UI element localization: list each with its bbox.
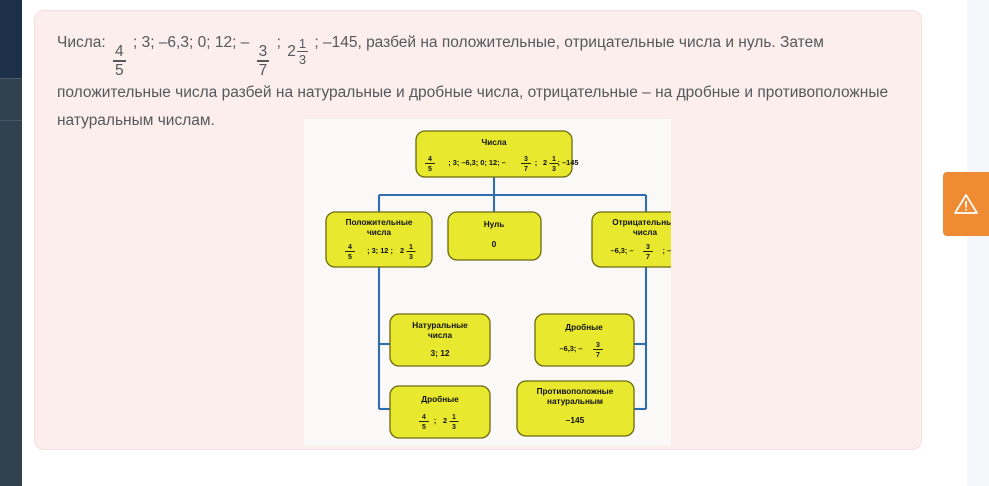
fraction-three-sevenths: 3 7: [257, 44, 270, 79]
svg-text:7: 7: [524, 166, 528, 173]
node-natural-value: 3; 12: [430, 348, 449, 358]
svg-text:3: 3: [409, 254, 413, 261]
prompt-lead: Числа:: [57, 34, 106, 51]
node-fractional-pos-title: Дробные: [421, 394, 459, 404]
svg-text:7: 7: [596, 352, 600, 359]
node-negative-title-line2: числа: [633, 228, 658, 237]
nav-rail-divider-2: [0, 120, 22, 121]
node-opposite-natural[interactable]: Противоположные натуральным –145: [517, 381, 634, 436]
svg-text:3: 3: [524, 156, 528, 163]
node-natural[interactable]: Натуральные числа 3; 12: [390, 314, 490, 366]
prompt-line-2: положительные числа разбей на натуральны…: [57, 84, 753, 101]
svg-text:7: 7: [646, 254, 650, 261]
svg-text:1: 1: [452, 414, 456, 421]
left-nav-rail[interactable]: [0, 0, 22, 486]
fraction-denominator: 3: [297, 53, 308, 66]
prompt-separator-2: ;: [277, 34, 281, 51]
svg-text:; 3; –6,3; 0; 12; –: ; 3; –6,3; 0; 12; –: [448, 158, 506, 167]
node-fractional-neg[interactable]: Дробные –6,3; – 3 7: [535, 314, 634, 366]
main-content: Числа: 4 5 ; 3; –6,3; 0; 12; – 3 7 ; 2 1…: [22, 0, 967, 486]
node-opposite-value: –145: [566, 415, 585, 425]
svg-text:1: 1: [552, 156, 556, 163]
fraction-denominator: 5: [113, 63, 126, 79]
fraction-four-fifths: 4 5: [113, 44, 126, 79]
prompt-separator-1: ; 3; –6,3; 0; 12; –: [133, 34, 249, 51]
svg-text:1: 1: [409, 244, 413, 251]
node-zero-value: 0: [492, 239, 497, 249]
node-fractional-pos-box: [390, 386, 490, 438]
fraction-denominator: 7: [257, 63, 270, 79]
mixed-fraction-part: 1 3: [297, 37, 308, 67]
nav-rail-top-segment: [0, 0, 22, 78]
svg-text:4: 4: [428, 156, 432, 163]
svg-text:3: 3: [646, 244, 650, 251]
svg-text:3: 3: [596, 342, 600, 349]
svg-text:3: 3: [552, 166, 556, 173]
svg-text:; –145: ; –145: [558, 158, 579, 167]
node-positive[interactable]: Положительные числа 4 5 ; 3; 12 ; 2 1 3: [326, 212, 432, 267]
node-fractional-neg-box: [535, 314, 634, 366]
svg-text:2: 2: [443, 416, 447, 425]
svg-text:4: 4: [422, 414, 426, 421]
warning-alert-button[interactable]: [943, 172, 989, 236]
svg-text:4: 4: [348, 244, 352, 251]
node-root[interactable]: Числа 4 5 ; 3; –6,3; 0; 12; – 3 7 ; 2: [416, 131, 578, 177]
fraction-numerator: 4: [113, 44, 126, 60]
classification-diagram: Числа 4 5 ; 3; –6,3; 0; 12; – 3 7 ; 2: [304, 119, 671, 446]
node-root-title: Числа: [481, 138, 507, 147]
svg-text:–6,3; –: –6,3; –: [610, 246, 633, 255]
fraction-numerator: 3: [257, 44, 270, 60]
node-zero[interactable]: Нуль 0: [448, 212, 541, 260]
node-positive-title-line1: Положительные: [346, 218, 413, 227]
node-fractional-neg-title: Дробные: [565, 322, 603, 332]
svg-text:; –145: ; –145: [663, 246, 671, 255]
svg-text:5: 5: [428, 166, 432, 173]
right-rail: [967, 0, 989, 486]
warning-triangle-icon: [953, 192, 979, 216]
mixed-number-two-one-third: 2 1 3: [287, 37, 308, 67]
node-zero-title: Нуль: [484, 220, 505, 229]
node-opposite-title-line2: натуральным: [547, 397, 603, 406]
node-fractional-pos[interactable]: Дробные 4 5 ; 2 1 3: [390, 386, 490, 438]
node-positive-title-line2: числа: [367, 228, 392, 237]
mixed-whole-part: 2: [287, 38, 296, 66]
svg-text:;: ;: [434, 416, 436, 425]
node-negative[interactable]: Отрицательные числа –6,3; – 3 7 ; –145: [592, 212, 671, 267]
svg-text:;: ;: [535, 158, 537, 167]
svg-text:–6,3; –: –6,3; –: [559, 344, 582, 353]
prompt-tail: ; –145, разбей на положительные, отрицат…: [314, 34, 824, 51]
task-card: Числа: 4 5 ; 3; –6,3; 0; 12; – 3 7 ; 2 1…: [34, 10, 922, 450]
node-negative-title-line1: Отрицательные: [612, 218, 671, 227]
node-natural-title-line2: числа: [428, 331, 453, 340]
svg-text:; 3; 12 ;: ; 3; 12 ;: [367, 246, 393, 255]
nav-rail-divider-1: [0, 78, 22, 79]
svg-text:2: 2: [400, 246, 404, 255]
svg-text:2: 2: [543, 158, 547, 167]
svg-text:5: 5: [422, 424, 426, 431]
fraction-numerator: 1: [297, 37, 308, 50]
svg-text:5: 5: [348, 254, 352, 261]
node-opposite-title-line1: Противоположные: [537, 387, 614, 396]
node-natural-title-line1: Натуральные: [412, 321, 468, 330]
svg-text:3: 3: [452, 424, 456, 431]
